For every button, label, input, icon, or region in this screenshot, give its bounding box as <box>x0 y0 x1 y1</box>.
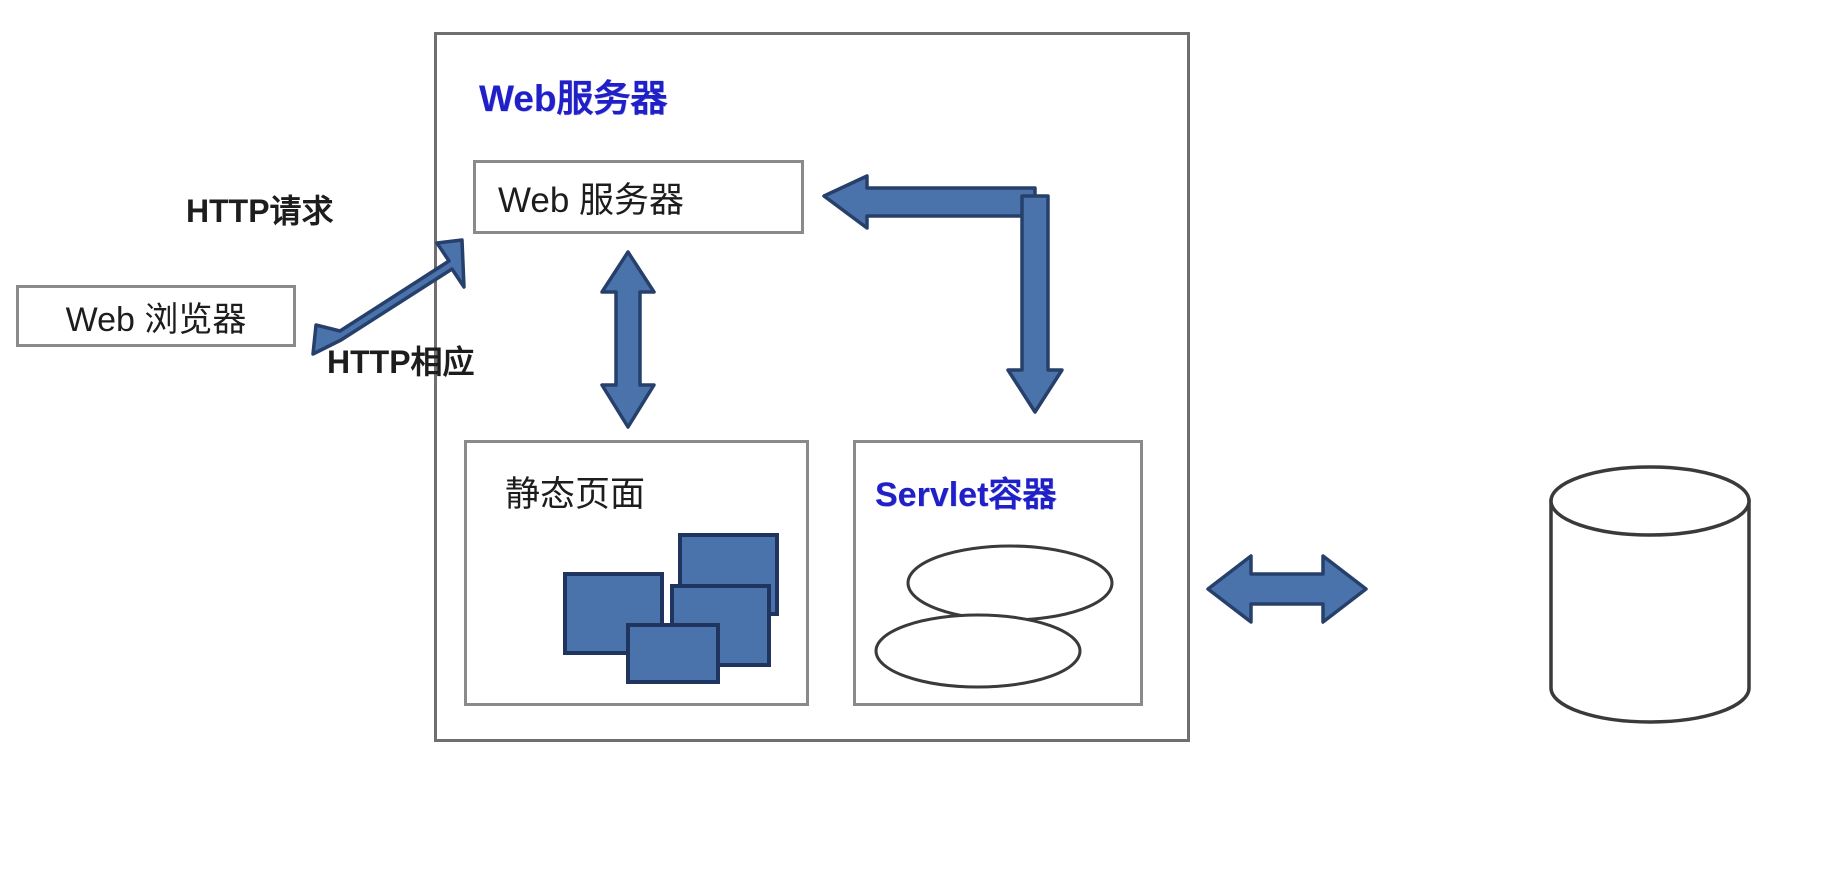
http-response-label: HTTP相应 <box>327 337 475 383</box>
http-request-label: HTTP请求 <box>186 186 334 232</box>
diagram-canvas: Web服务器 Web 服务器 Web 浏览器 HTTP请求 HTTP相应 静态页… <box>0 0 1837 877</box>
servlet-container-label: Servlet容器 <box>875 467 1056 516</box>
db-arrow-icon <box>1208 556 1366 622</box>
static-pages-label: 静态页面 <box>505 466 645 517</box>
web-browser-node-label: Web 浏览器 <box>19 288 293 344</box>
servlet-ellipse-label: Servlet <box>908 548 1112 622</box>
web-server-node[interactable]: Web 服务器 <box>473 160 804 234</box>
web-browser-node[interactable]: Web 浏览器 <box>16 285 296 347</box>
web-server-container-title: Web服务器 <box>479 68 667 122</box>
database-label: 数据库 <box>1634 566 1745 620</box>
jsp-ellipse-label: jsp <box>876 615 1080 687</box>
web-server-node-label: Web 服务器 <box>476 163 801 231</box>
